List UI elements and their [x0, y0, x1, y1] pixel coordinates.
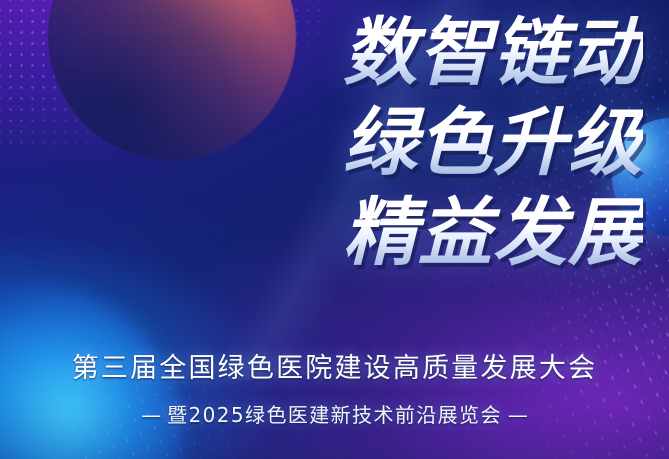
exhibition-subtitle-text: 暨2025绿色医建新技术前沿展览会	[167, 403, 502, 427]
subtitle-dash-right: —	[502, 403, 534, 427]
headline-line-3: 精益发展	[173, 184, 643, 282]
subtitle-dash-left: —	[135, 403, 167, 427]
headline-block: 数智链动 绿色升级 精益发展	[173, 4, 643, 282]
conference-poster: 数智链动 绿色升级 精益发展 第三届全国绿色医院建设高质量发展大会 —暨2025…	[0, 0, 669, 459]
headline-line-2: 绿色升级	[173, 94, 643, 192]
exhibition-subtitle: —暨2025绿色医建新技术前沿展览会—	[0, 402, 669, 428]
conference-title: 第三届全国绿色医院建设高质量发展大会	[0, 352, 669, 386]
subtitle-block: 第三届全国绿色医院建设高质量发展大会 —暨2025绿色医建新技术前沿展览会—	[0, 352, 669, 428]
headline-line-1: 数智链动	[173, 4, 643, 102]
